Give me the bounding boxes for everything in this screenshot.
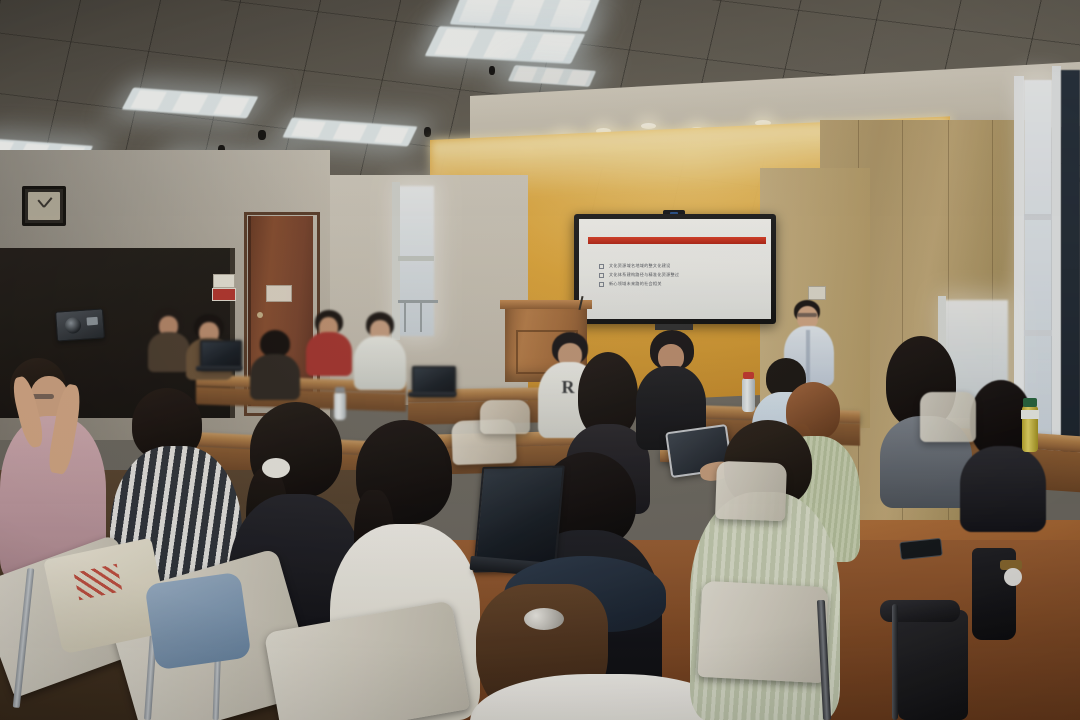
laptop-keyboard[interactable] xyxy=(196,366,242,371)
wall-clock xyxy=(22,186,66,226)
bottle-label xyxy=(1021,410,1039,419)
recessed-downlight xyxy=(641,123,656,129)
attendee-back-row xyxy=(148,308,190,372)
clock-face xyxy=(28,192,60,220)
window-pane-dark xyxy=(1061,70,1080,456)
stackable-chair[interactable] xyxy=(715,461,787,521)
slide-bullet-item: 新心领域未来路的社会相关 xyxy=(609,279,759,288)
black-office-chair[interactable] xyxy=(898,610,968,720)
office-chair-post xyxy=(892,604,898,720)
bottle-cap xyxy=(743,372,754,379)
bottle-cap xyxy=(335,387,345,393)
bag-charm xyxy=(1004,568,1022,586)
ceiling-sensor-arm xyxy=(489,66,495,75)
stackable-chair[interactable] xyxy=(698,581,829,683)
attendee-dark-back-row xyxy=(250,330,300,400)
attendee-red-shirt-back xyxy=(306,310,352,376)
stackable-chair[interactable] xyxy=(480,400,530,434)
beaded-hair-tie xyxy=(524,608,564,630)
presentation-slide: 文化资源域名地域的整文化建设 文化体系建构路径与精准化资源整过 新心领域未来路的… xyxy=(579,219,771,319)
lecture-hall-photo: 文化资源域名地域的整文化建设 文化体系建构路径与精准化资源整过 新心领域未来路的… xyxy=(0,0,1080,720)
window-mullion xyxy=(1024,330,1052,336)
attendee-white-shirt-back xyxy=(354,312,406,390)
laptop-keyboard[interactable] xyxy=(408,392,456,397)
hair-scrunchie xyxy=(262,458,290,478)
window-frame xyxy=(1052,66,1061,456)
ceiling-sensor-arm xyxy=(424,127,431,137)
door-knob[interactable] xyxy=(257,312,263,318)
ceiling-sensor-arm xyxy=(258,130,266,140)
white-paper-notice xyxy=(213,274,235,288)
camera-held-up[interactable] xyxy=(55,308,105,341)
window-mullion xyxy=(1024,214,1052,220)
water-bottle[interactable] xyxy=(742,378,755,412)
eyeglasses xyxy=(797,313,817,317)
slide-bullet-item: 文化资源域名地域的整文化建设 xyxy=(609,261,759,270)
camera-screen xyxy=(86,317,98,326)
wall-switch-plate[interactable] xyxy=(808,286,826,300)
slide-bullet-list: 文化资源域名地域的整文化建设 文化体系建构路径与精准化资源整过 新心领域未来路的… xyxy=(609,261,759,288)
denim-jacket-on-chair xyxy=(144,572,251,671)
slide-accent-bar xyxy=(588,237,766,244)
bottle-cap xyxy=(1023,398,1037,407)
stackable-chair[interactable] xyxy=(920,392,976,442)
camera-lens xyxy=(64,317,81,334)
railing-post xyxy=(420,300,422,332)
window-mullion xyxy=(398,256,434,261)
slide-bullet-item: 文化体系建构路径与精准化资源整过 xyxy=(609,270,759,279)
clock-minute-hand xyxy=(43,197,52,207)
wall-mounted-presentation-display[interactable]: 文化资源域名地域的整文化建设 文化体系建构路径与精准化资源整过 新心领域未来路的… xyxy=(574,214,776,324)
white-paper-notice xyxy=(266,285,292,302)
red-warning-sign xyxy=(212,288,236,301)
